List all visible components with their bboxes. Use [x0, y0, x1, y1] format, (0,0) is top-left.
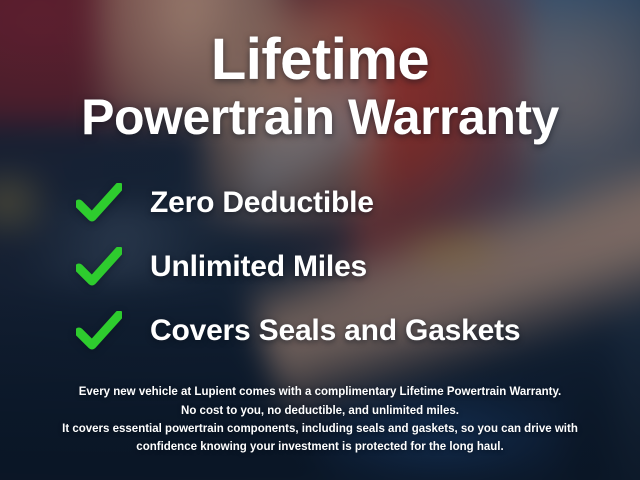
disclaimer-line-1: Every new vehicle at Lupient comes with … — [34, 383, 606, 401]
disclaimer-line-3: It covers essential powertrain component… — [34, 420, 606, 438]
page-title: Lifetime Powertrain Warranty — [0, 30, 640, 145]
list-item: Zero Deductible — [76, 171, 640, 235]
benefit-label-covers-seals-and-gaskets: Covers Seals and Gaskets — [150, 314, 520, 348]
list-item: Unlimited Miles — [76, 235, 640, 299]
disclaimer-line-4: confidence knowing your investment is pr… — [34, 438, 606, 456]
list-item: Covers Seals and Gaskets — [76, 299, 640, 363]
benefit-label-zero-deductible: Zero Deductible — [150, 186, 374, 220]
check-icon — [76, 311, 122, 351]
lifetime-powertrain-warranty-banner: Lifetime Powertrain Warranty Zero Deduct… — [0, 0, 640, 480]
headline-line-1: Lifetime — [0, 30, 640, 89]
benefit-label-unlimited-miles: Unlimited Miles — [150, 250, 367, 284]
benefits-list: Zero Deductible Unlimited Miles Covers S… — [0, 171, 640, 363]
check-icon — [76, 183, 122, 223]
headline-line-2: Powertrain Warranty — [0, 89, 640, 145]
banner-content: Lifetime Powertrain Warranty Zero Deduct… — [0, 0, 640, 480]
disclaimer-text: Every new vehicle at Lupient comes with … — [0, 383, 640, 456]
disclaimer-line-2: No cost to you, no deductible, and unlim… — [34, 402, 606, 420]
check-icon — [76, 247, 122, 287]
